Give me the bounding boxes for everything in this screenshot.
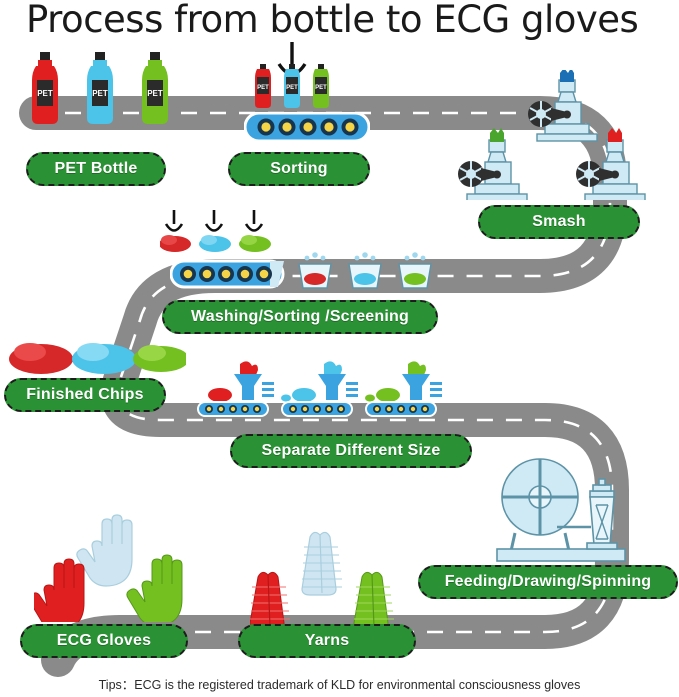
sorting-conveyor xyxy=(244,112,370,142)
stage-badge-finished-chips[interactable]: Finished Chips xyxy=(4,378,166,412)
yarn-spool-red xyxy=(250,572,290,625)
wash-basin-red xyxy=(299,252,331,288)
stage-badge-washing[interactable]: Washing/Sorting /Screening xyxy=(162,300,438,334)
chip-pile-red xyxy=(160,235,191,252)
wash-basin-green xyxy=(399,252,431,288)
smash-machine-2 xyxy=(458,128,527,200)
wash-basin-group xyxy=(295,252,435,294)
stage-label: PET Bottle xyxy=(55,160,138,178)
separate-machine-green xyxy=(365,361,442,416)
spinning-machine xyxy=(495,455,630,565)
stage-badge-yarns[interactable]: Yarns xyxy=(238,624,416,658)
yarn-group xyxy=(250,525,410,625)
stage-label: Finished Chips xyxy=(26,386,143,404)
footer-tips: Tips：ECG is the registered trademark of … xyxy=(0,674,679,693)
pet-bottle-blue: PET xyxy=(87,52,113,124)
stage-label: Washing/Sorting /Screening xyxy=(191,308,409,326)
washing-conveyor xyxy=(170,259,290,293)
svg-text:PET: PET xyxy=(147,89,163,98)
washing-hooks-and-chips xyxy=(160,210,280,260)
stage-label: Yarns xyxy=(305,632,350,650)
svg-text:PET: PET xyxy=(315,85,327,91)
glove-green xyxy=(127,555,182,622)
finished-chip-pile-blue xyxy=(72,343,136,374)
stage-badge-pet-bottle[interactable]: PET Bottle xyxy=(26,152,166,186)
infographic-canvas: Process from bottle to ECG gloves PET PE… xyxy=(0,0,679,697)
finished-chips-group xyxy=(6,333,186,381)
yarn-spool-light-blue xyxy=(302,532,342,595)
stage-badge-feeding[interactable]: Feeding/Drawing/Spinning xyxy=(418,565,678,599)
chip-pile-green xyxy=(239,235,271,252)
chip-pile-blue xyxy=(199,235,231,252)
finished-chip-pile-red xyxy=(9,343,73,374)
glove-group xyxy=(34,512,194,622)
smash-machine-group xyxy=(455,70,660,200)
stage-badge-separate[interactable]: Separate Different Size xyxy=(230,434,472,468)
pet-bottle-blue-small: PET xyxy=(284,64,300,108)
svg-text:PET: PET xyxy=(286,85,298,91)
glove-light-blue xyxy=(77,515,132,586)
separate-machine-group xyxy=(196,360,446,420)
stage-label: Separate Different Size xyxy=(262,442,441,460)
pet-bottle-green-small: PET xyxy=(313,64,329,108)
yarn-spool-green xyxy=(354,572,394,625)
separate-machine-blue xyxy=(281,361,358,416)
wash-basin-blue xyxy=(349,252,381,288)
pet-bottle-group: PET PET PET xyxy=(26,52,186,126)
finished-chip-pile-green xyxy=(133,345,186,372)
svg-text:PET: PET xyxy=(257,85,269,91)
stage-label: ECG Gloves xyxy=(57,632,151,650)
glove-red xyxy=(34,559,84,622)
svg-text:PET: PET xyxy=(92,89,108,98)
svg-text:PET: PET xyxy=(37,89,53,98)
pet-bottle-green: PET xyxy=(142,52,168,124)
smash-machine-1 xyxy=(528,70,597,141)
separate-machine-red xyxy=(198,361,274,416)
pet-bottle-red-small: PET xyxy=(255,64,271,108)
stage-badge-sorting[interactable]: Sorting xyxy=(228,152,370,186)
stage-badge-smash[interactable]: Smash xyxy=(478,205,640,239)
stage-label: Smash xyxy=(532,213,585,231)
stage-label: Feeding/Drawing/Spinning xyxy=(445,573,652,591)
pet-bottle-red: PET xyxy=(32,52,58,124)
stage-label: Sorting xyxy=(270,160,327,178)
stage-badge-ecg-gloves[interactable]: ECG Gloves xyxy=(20,624,188,658)
